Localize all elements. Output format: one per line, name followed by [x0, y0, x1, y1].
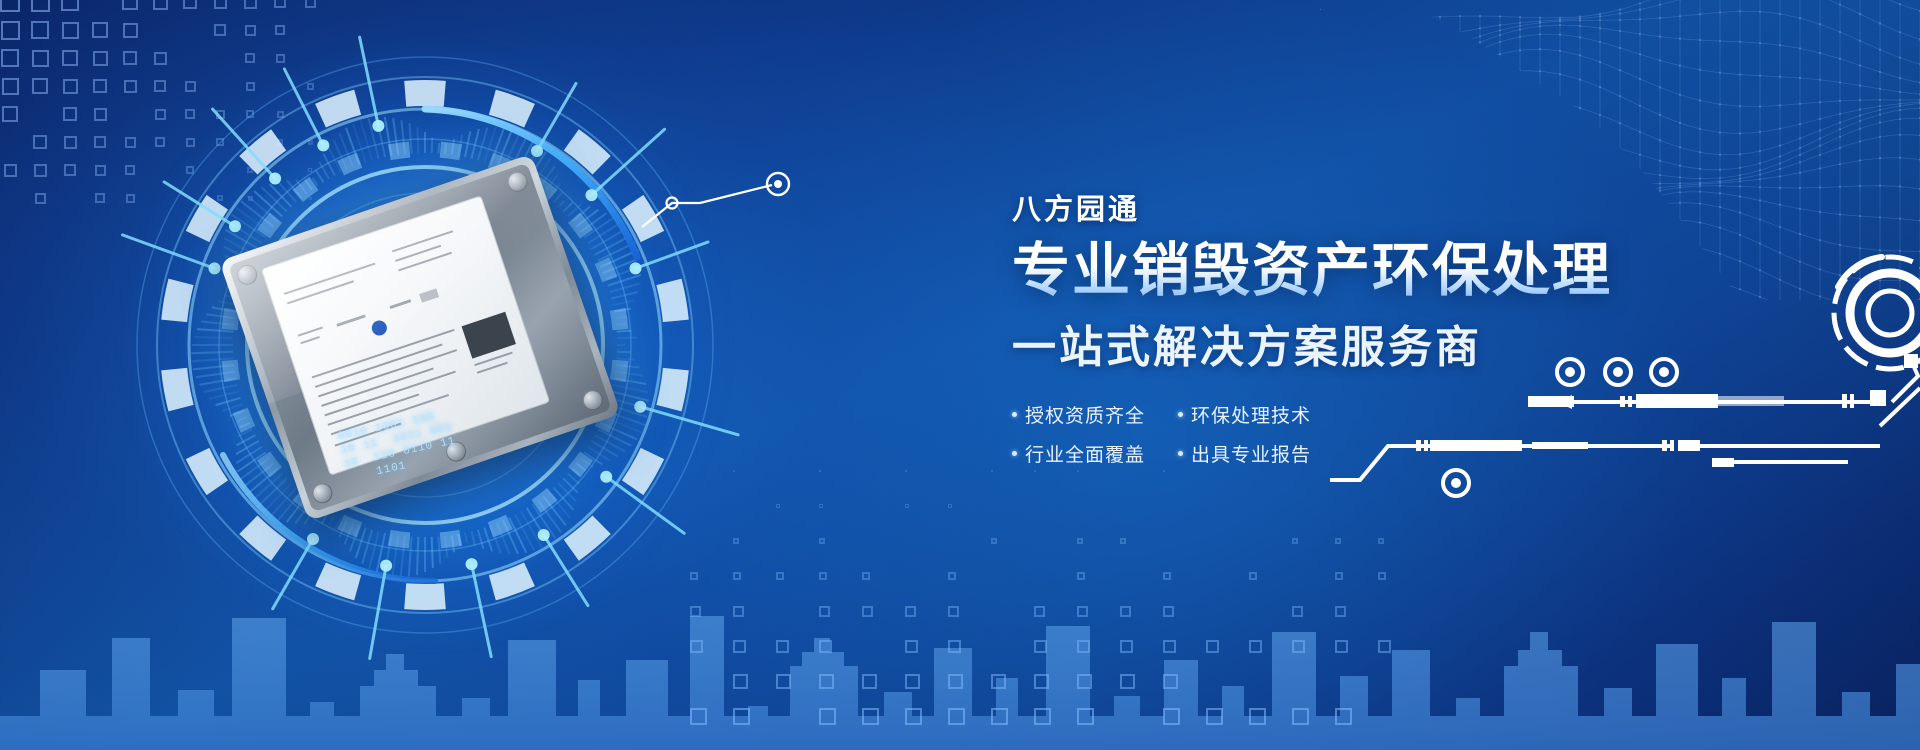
grid-square [1335, 640, 1348, 653]
grid-square [1120, 606, 1131, 617]
grid-square [1, 49, 19, 67]
grid-square [4, 164, 17, 177]
grid-square [1292, 708, 1309, 725]
grid-square [776, 572, 784, 580]
bullet-label: 环保处理技术 [1191, 401, 1311, 428]
grid-square [1034, 674, 1049, 689]
grid-square [948, 606, 959, 617]
headline: 专业销毁资产环保处理 [1012, 240, 1712, 303]
grid-square [35, 193, 46, 204]
grid-square [31, 0, 50, 12]
grid-square [1077, 606, 1088, 617]
grid-square [862, 674, 877, 689]
grid-square [991, 708, 1008, 725]
bullet-label: 授权资质齐全 [1025, 401, 1145, 428]
grid-square [905, 470, 907, 472]
grid-square [819, 572, 827, 580]
grid-square [948, 640, 961, 653]
bullet-row: 行业全面覆盖 出具专业报告 [1012, 440, 1712, 467]
grid-square [1077, 538, 1083, 544]
bullet-item: 授权资质齐全 [1012, 401, 1160, 428]
grid-square [1249, 708, 1266, 725]
grid-square [1163, 640, 1176, 653]
grid-square [948, 504, 952, 508]
grid-square [1335, 708, 1352, 725]
grid-square [1077, 708, 1094, 725]
grid-square [905, 708, 922, 725]
grid-square [95, 165, 106, 176]
grid-square [214, 0, 227, 9]
subheadline: 一站式解决方案服务商 [1012, 311, 1712, 375]
banner-text-block: 八方园通 专业销毁资产环保处理 一站式解决方案服务商 授权资质齐全 环保处理技术… [1012, 186, 1712, 479]
grid-square [991, 538, 997, 544]
promo-banner: 0010 1001 100 10 11 1011 001 10 110 0110… [0, 0, 1920, 750]
grid-square [1335, 606, 1346, 617]
bullet-item: 行业全面覆盖 [1012, 440, 1160, 467]
bullet-row: 授权资质齐全 环保处理技术 [1012, 401, 1712, 428]
grid-square [948, 674, 963, 689]
grid-square [819, 606, 830, 617]
grid-square [690, 708, 707, 725]
grid-square [776, 504, 780, 508]
grid-square [1120, 538, 1126, 544]
grid-square [991, 470, 993, 472]
grid-square [0, 0, 20, 12]
grid-square [905, 674, 920, 689]
feature-bullets: 授权资质齐全 环保处理技术 行业全面覆盖 出具专业报告 [1012, 401, 1712, 467]
grid-square [183, 0, 197, 9]
grid-square [1077, 572, 1085, 580]
grid-square [95, 193, 105, 203]
grid-square [122, 0, 138, 10]
grid-square [31, 21, 49, 39]
bullet-dot-icon [1178, 412, 1183, 417]
grid-square [819, 470, 821, 472]
grid-square [905, 640, 918, 653]
grid-square [819, 708, 836, 725]
grid-square [1206, 708, 1223, 725]
brand-name: 八方园通 [1012, 186, 1712, 228]
grid-square [33, 135, 47, 149]
grid-square [1292, 606, 1303, 617]
grid-square [1206, 640, 1219, 653]
grid-square [1249, 640, 1262, 653]
grid-square [274, 0, 286, 8]
grid-square [62, 50, 78, 66]
grid-square [34, 164, 47, 177]
grid-square [1120, 674, 1135, 689]
grid-square [1163, 708, 1180, 725]
grid-square [153, 0, 168, 10]
grid-square [32, 50, 49, 67]
grid-square [819, 504, 823, 508]
hdd-tech-ring-graphic: 0010 1001 100 10 11 1011 001 10 110 0110… [105, 25, 745, 665]
grid-square [63, 107, 77, 121]
grid-square [1163, 572, 1171, 580]
grid-square [1077, 640, 1090, 653]
bullet-label: 出具专业报告 [1191, 440, 1311, 467]
grid-square [61, 0, 79, 11]
grid-square [1034, 640, 1047, 653]
grid-square [1378, 572, 1386, 580]
grid-square [305, 0, 316, 8]
bullet-dot-icon [1178, 451, 1183, 456]
grid-square [905, 606, 916, 617]
grid-square [1292, 640, 1305, 653]
grid-square [776, 640, 789, 653]
grid-square [244, 0, 257, 9]
grid-square [862, 572, 870, 580]
grid-square [2, 106, 18, 122]
bullet-dot-icon [1012, 451, 1017, 456]
grid-square [1163, 674, 1178, 689]
grid-square [1249, 572, 1257, 580]
grid-square [905, 504, 909, 508]
bullet-item: 环保处理技术 [1178, 401, 1326, 428]
gear-ring-icon [1808, 235, 1920, 385]
grid-square [948, 708, 965, 725]
node-connector-line [640, 165, 820, 235]
grid-square [948, 572, 956, 580]
grid-square [819, 640, 832, 653]
grid-square [862, 708, 879, 725]
grid-square [63, 79, 78, 94]
grid-square [776, 674, 791, 689]
grid-square [862, 606, 873, 617]
grid-square [819, 674, 834, 689]
bullet-dot-icon [1012, 412, 1017, 417]
grid-square [64, 164, 76, 176]
grid-square [1077, 674, 1092, 689]
grid-square [733, 674, 748, 689]
grid-square [1, 21, 20, 40]
grid-square [1335, 572, 1343, 580]
grid-square [1120, 640, 1133, 653]
grid-square [991, 674, 1006, 689]
grid-square [1163, 606, 1174, 617]
grid-square [1034, 708, 1051, 725]
bullet-label: 行业全面覆盖 [1025, 440, 1145, 467]
grid-square [733, 708, 750, 725]
bullet-item: 出具专业报告 [1178, 440, 1326, 467]
grid-square [2, 78, 19, 95]
grid-square [64, 136, 77, 149]
grid-square [32, 78, 48, 94]
grid-square [819, 538, 825, 544]
grid-square [1034, 606, 1045, 617]
grid-square [62, 22, 79, 39]
grid-square [1378, 640, 1391, 653]
